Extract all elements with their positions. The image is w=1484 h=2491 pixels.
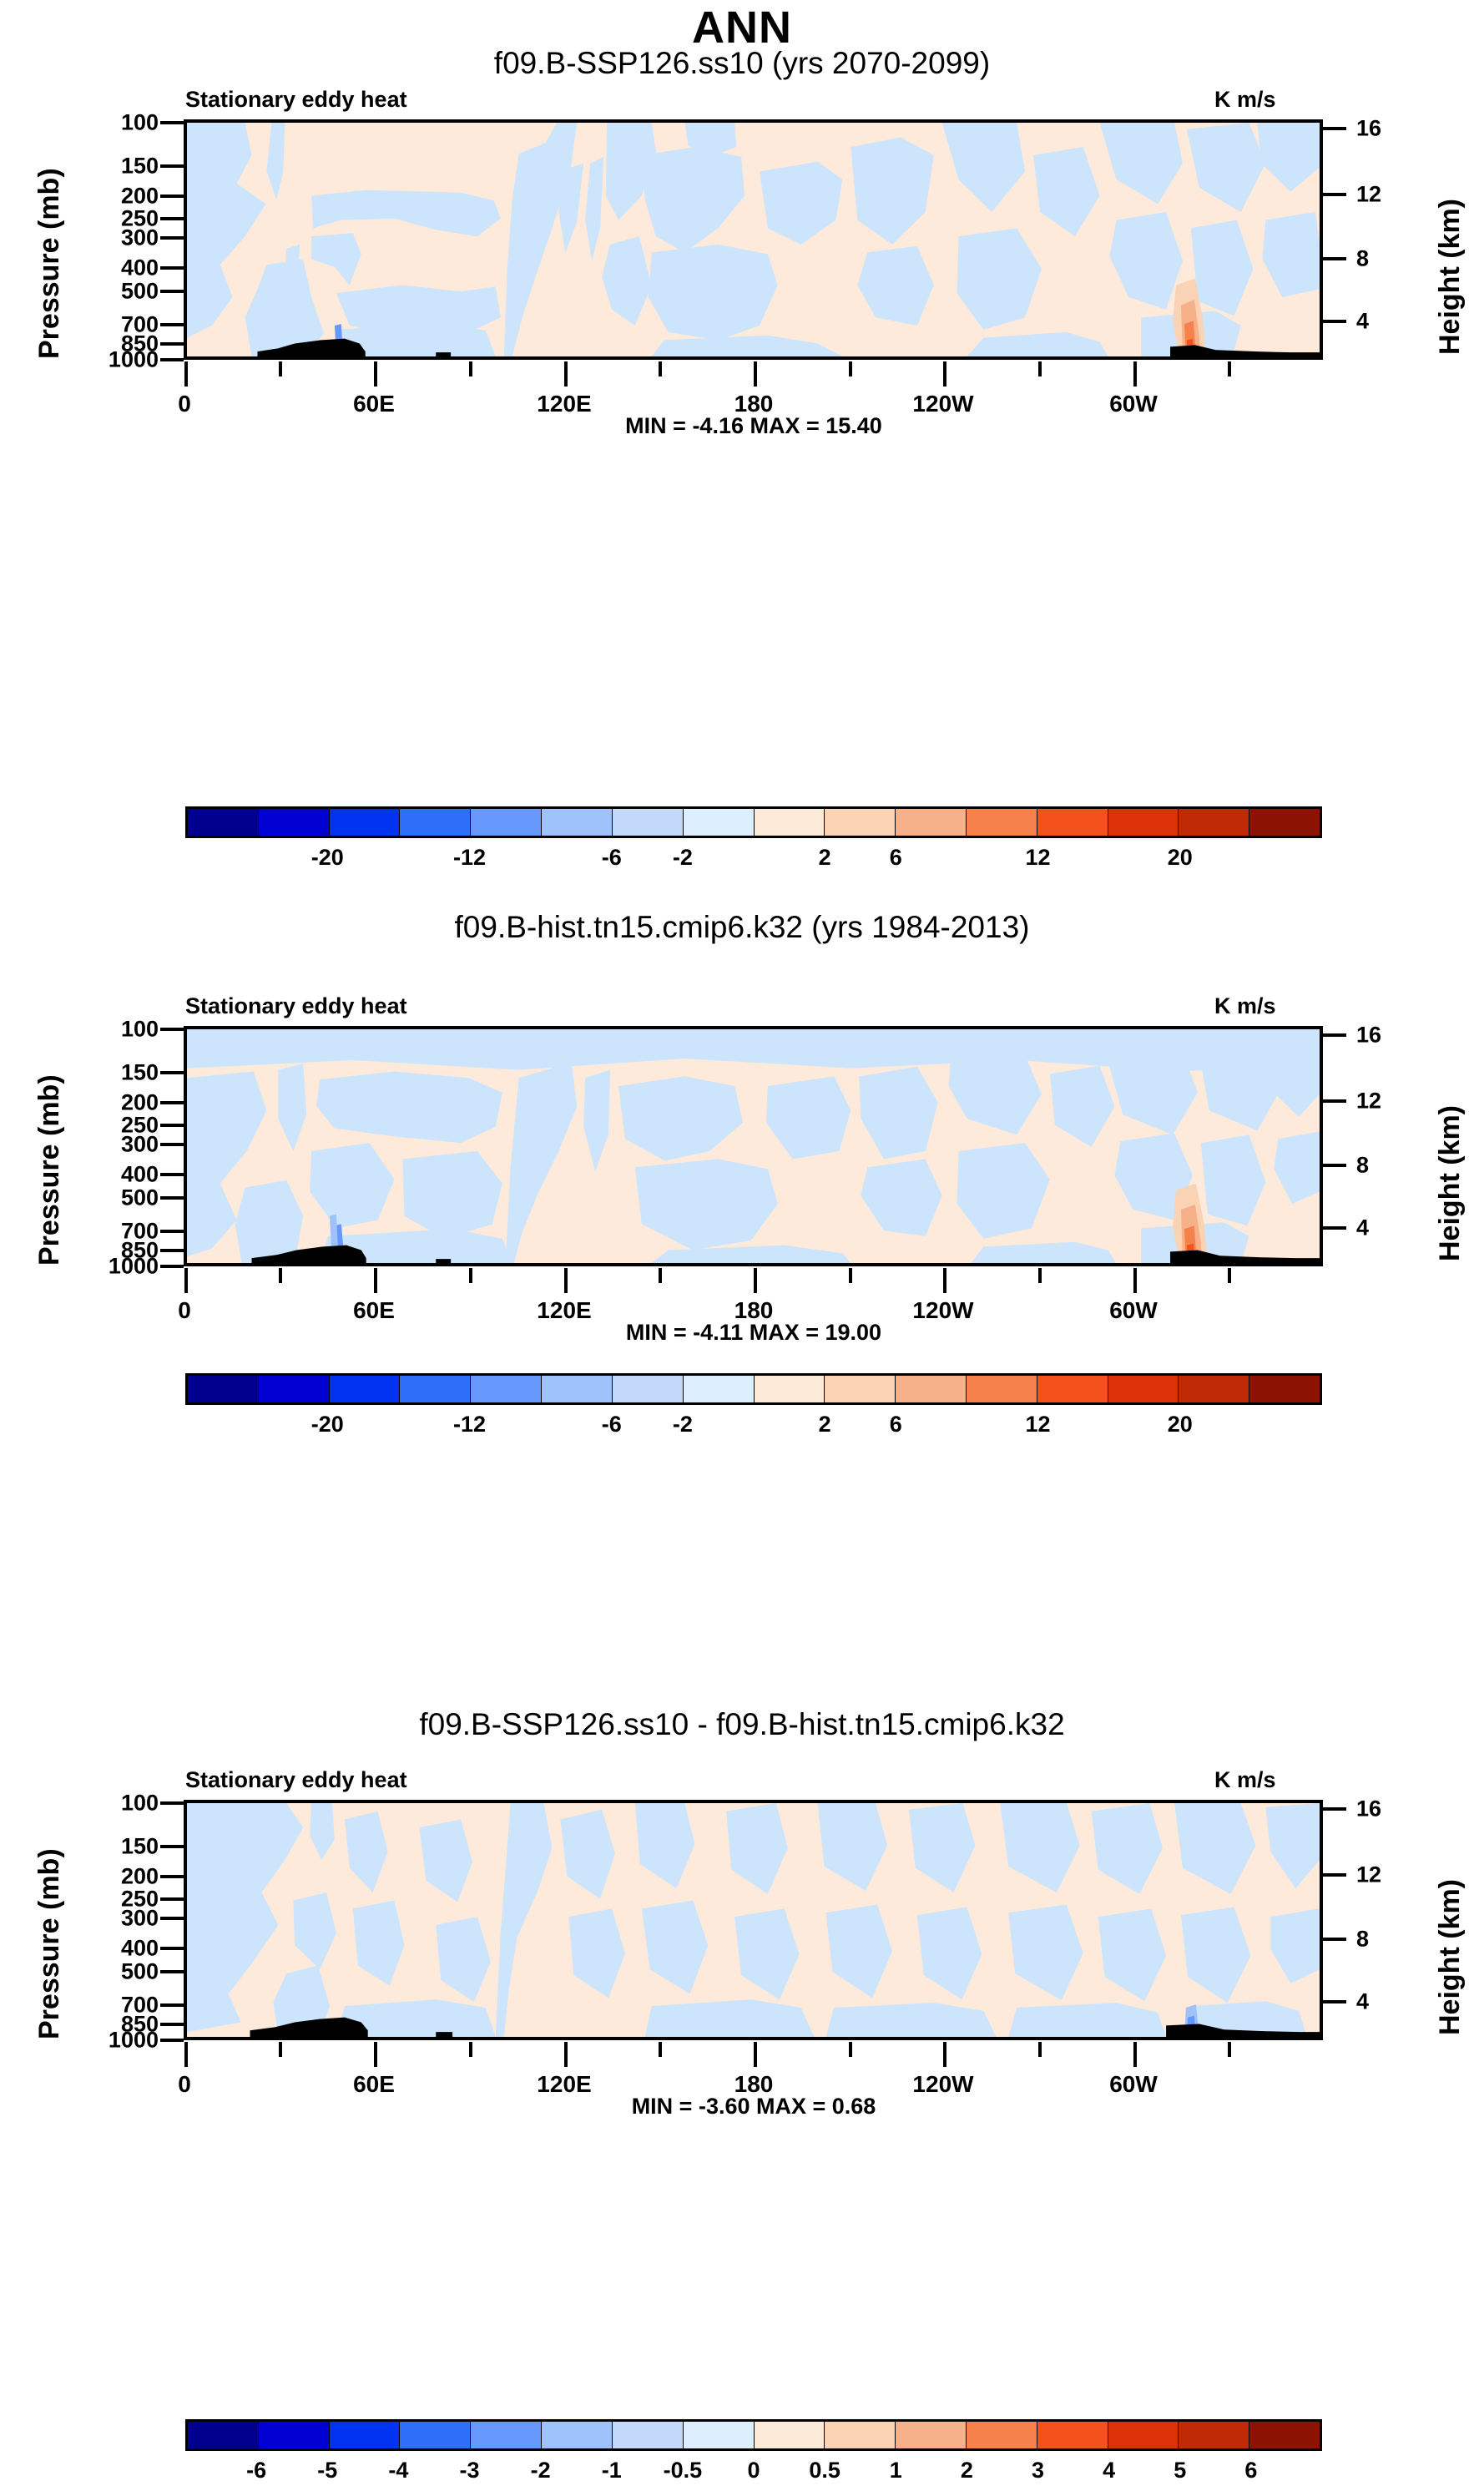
panel-3-units-label: K m/s bbox=[1214, 1767, 1276, 1793]
panel-2-variable-label: Stationary eddy heat bbox=[185, 993, 407, 1019]
panel-3-minmax: MIN = -3.60 MAX = 0.68 bbox=[632, 2094, 876, 2120]
colorbar-cell bbox=[967, 2422, 1037, 2448]
colorbar-cell bbox=[825, 1376, 896, 1402]
colorbar-cell bbox=[259, 809, 330, 836]
colorbar-cell bbox=[1179, 2422, 1249, 2448]
colorbar-tick-label: -6 bbox=[602, 1412, 622, 1438]
colorbar-tick-label: 1 bbox=[890, 2458, 902, 2483]
colorbar-tick-label: 20 bbox=[1168, 845, 1193, 871]
colorbar-cell bbox=[1037, 2422, 1108, 2448]
panel-1-variable-label: Stationary eddy heat bbox=[185, 87, 407, 113]
panel-3-variable-label: Stationary eddy heat bbox=[185, 1767, 407, 1793]
colorbar-cell bbox=[542, 809, 613, 836]
colorbar-cell bbox=[896, 809, 967, 836]
colorbar-cell bbox=[400, 1376, 471, 1402]
panel-1-colorbar-labels: -20-12-6-2261220 bbox=[185, 845, 1322, 878]
panel-1-y-axis-title: Pressure (mb) bbox=[33, 168, 66, 359]
colorbar-cell bbox=[684, 2422, 755, 2448]
colorbar-tick-label: -2 bbox=[531, 2458, 551, 2483]
colorbar-cell bbox=[1179, 1376, 1249, 1402]
panel-2-contour-field bbox=[187, 1029, 1320, 1263]
panel-2-colorbar-labels: -20-12-6-2261220 bbox=[185, 1412, 1322, 1445]
panel-1-title: f09.B-SSP126.ss10 (yrs 2070-2099) bbox=[0, 46, 1484, 81]
panel-1-units-label: K m/s bbox=[1214, 87, 1276, 113]
colorbar-cell bbox=[755, 1376, 825, 1402]
panel-1-plot-area bbox=[184, 119, 1323, 360]
colorbar-tick-label: 0.5 bbox=[809, 2458, 840, 2483]
panel-3-y-axis-title: Pressure (mb) bbox=[33, 1848, 66, 2039]
colorbar-cell bbox=[188, 809, 259, 836]
colorbar-cell bbox=[188, 2422, 259, 2448]
colorbar-cell bbox=[400, 809, 471, 836]
panel-3-contour-field bbox=[187, 1803, 1320, 2037]
colorbar-tick-label: -2 bbox=[673, 845, 693, 871]
panel-3-y2-axis-title: Height (km) bbox=[1434, 1879, 1466, 2035]
colorbar-tick-label: 2 bbox=[961, 2458, 973, 2483]
colorbar-tick-label: 20 bbox=[1168, 1412, 1193, 1438]
figure-root: ANN f09.B-SSP126.ss10 (yrs 2070-2099) St… bbox=[0, 0, 1484, 2483]
colorbar-tick-label: 0 bbox=[747, 2458, 760, 2483]
colorbar-cell bbox=[542, 2422, 613, 2448]
colorbar-tick-label: -6 bbox=[246, 2458, 266, 2483]
colorbar-tick-label: 2 bbox=[819, 1412, 831, 1438]
colorbar-cell bbox=[1108, 2422, 1179, 2448]
colorbar-cell bbox=[1249, 1376, 1320, 1402]
colorbar-tick-label: -0.5 bbox=[664, 2458, 703, 2483]
panel-1-contour-field bbox=[187, 123, 1320, 356]
panel-2-y-axis-title: Pressure (mb) bbox=[33, 1074, 66, 1266]
colorbar-tick-label: 12 bbox=[1025, 845, 1050, 871]
colorbar-cell bbox=[967, 809, 1037, 836]
panel-3-colorbar-labels: -6-5-4-3-2-1-0.500.5123456 bbox=[185, 2458, 1322, 2491]
panel-2-minmax: MIN = -4.11 MAX = 19.00 bbox=[626, 1320, 881, 1346]
colorbar-cell bbox=[1037, 809, 1108, 836]
colorbar-tick-label: -5 bbox=[317, 2458, 337, 2483]
panel-3: f09.B-SSP126.ss10 - f09.B-hist.tn15.cmip… bbox=[0, 1678, 1484, 2483]
colorbar-cell bbox=[330, 1376, 401, 1402]
colorbar-cell bbox=[400, 2422, 471, 2448]
colorbar-cell bbox=[755, 2422, 825, 2448]
colorbar-tick-label: -6 bbox=[602, 845, 622, 871]
colorbar-cell bbox=[471, 1376, 542, 1402]
colorbar-cell bbox=[684, 1376, 755, 1402]
colorbar-tick-label: -2 bbox=[673, 1412, 693, 1438]
colorbar-tick-label: 6 bbox=[890, 845, 902, 871]
colorbar-tick-label: 4 bbox=[1103, 2458, 1115, 2483]
colorbar-cell bbox=[1179, 809, 1249, 836]
panel-2-colorbar bbox=[185, 1373, 1322, 1405]
panel-2-y2-axis-title: Height (km) bbox=[1434, 1105, 1466, 1261]
colorbar-tick-label: -4 bbox=[388, 2458, 408, 2483]
colorbar-cell bbox=[1108, 1376, 1179, 1402]
colorbar-cell bbox=[684, 809, 755, 836]
colorbar-tick-label: 12 bbox=[1025, 1412, 1050, 1438]
colorbar-tick-label: -12 bbox=[453, 1412, 486, 1438]
panel-1-minmax: MIN = -4.16 MAX = 15.40 bbox=[625, 413, 882, 439]
colorbar-cell bbox=[1037, 1376, 1108, 1402]
panel-2-title: f09.B-hist.tn15.cmip6.k32 (yrs 1984-2013… bbox=[0, 910, 1484, 945]
panel-1-colorbar bbox=[185, 806, 1322, 838]
colorbar-cell bbox=[330, 2422, 401, 2448]
colorbar-cell bbox=[755, 809, 825, 836]
colorbar-cell bbox=[471, 2422, 542, 2448]
colorbar-cell bbox=[1108, 809, 1179, 836]
colorbar-tick-label: -3 bbox=[459, 2458, 479, 2483]
colorbar-tick-label: -1 bbox=[602, 2458, 622, 2483]
colorbar-tick-label: 3 bbox=[1032, 2458, 1044, 2483]
colorbar-cell bbox=[1249, 2422, 1320, 2448]
colorbar-cell bbox=[613, 809, 684, 836]
colorbar-cell bbox=[259, 2422, 330, 2448]
colorbar-cell bbox=[1249, 809, 1320, 836]
panel-1: f09.B-SSP126.ss10 (yrs 2070-2099) Statio… bbox=[0, 0, 1484, 902]
colorbar-cell bbox=[188, 1376, 259, 1402]
panel-2-plot-area bbox=[184, 1026, 1323, 1266]
colorbar-cell bbox=[613, 1376, 684, 1402]
colorbar-tick-label: 6 bbox=[890, 1412, 902, 1438]
panel-1-y2-axis-title: Height (km) bbox=[1434, 199, 1466, 355]
colorbar-cell bbox=[896, 2422, 967, 2448]
colorbar-cell bbox=[259, 1376, 330, 1402]
colorbar-cell bbox=[542, 1376, 613, 1402]
panel-2: f09.B-hist.tn15.cmip6.k32 (yrs 1984-2013… bbox=[0, 902, 1484, 1678]
colorbar-cell bbox=[825, 809, 896, 836]
colorbar-tick-label: 5 bbox=[1174, 2458, 1186, 2483]
colorbar-cell bbox=[896, 1376, 967, 1402]
colorbar-tick-label: -20 bbox=[311, 1412, 344, 1438]
panel-3-plot-area bbox=[184, 1800, 1323, 2040]
colorbar-tick-label: -12 bbox=[453, 845, 486, 871]
colorbar-tick-label: 2 bbox=[819, 845, 831, 871]
colorbar-cell bbox=[967, 1376, 1037, 1402]
panel-3-colorbar bbox=[185, 2419, 1322, 2451]
panel-3-title: f09.B-SSP126.ss10 - f09.B-hist.tn15.cmip… bbox=[0, 1707, 1484, 1742]
colorbar-tick-label: 6 bbox=[1244, 2458, 1257, 2483]
panel-2-units-label: K m/s bbox=[1214, 993, 1276, 1019]
colorbar-cell bbox=[825, 2422, 896, 2448]
colorbar-tick-label: -20 bbox=[311, 845, 344, 871]
colorbar-cell bbox=[613, 2422, 684, 2448]
colorbar-cell bbox=[471, 809, 542, 836]
colorbar-cell bbox=[330, 809, 401, 836]
